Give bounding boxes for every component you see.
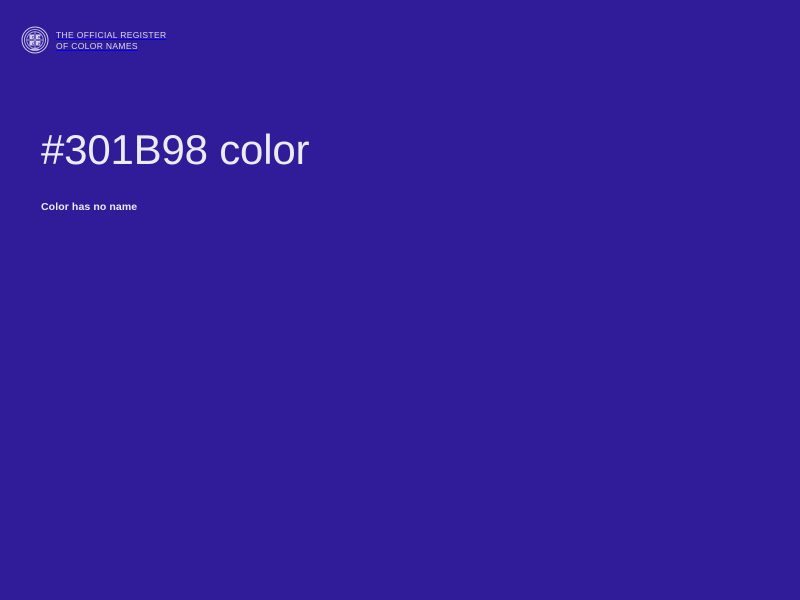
svg-text:C: C xyxy=(32,41,35,46)
brand-wordmark-line-2: OF COLOR NAMES xyxy=(56,41,166,52)
brand-wordmark-line-1: THE OFFICIAL REGISTER xyxy=(56,30,166,41)
svg-text:O: O xyxy=(32,34,35,39)
brand-wordmark: THE OFFICIAL REGISTER OF COLOR NAMES xyxy=(56,29,166,51)
svg-text:N: N xyxy=(38,41,41,46)
svg-text:R: R xyxy=(38,34,41,39)
page-title: #301B98 color xyxy=(41,124,741,176)
color-name-status: Color has no name xyxy=(41,176,741,214)
brand-logo-link[interactable]: O R C N THE OFFICIAL REGISTER OF COLOR N… xyxy=(21,26,166,54)
color-detail-page: O R C N THE OFFICIAL REGISTER OF COLOR N… xyxy=(0,0,800,600)
color-info-block: #301B98 color Color has no name xyxy=(41,124,741,214)
register-seal-icon: O R C N xyxy=(21,26,49,54)
